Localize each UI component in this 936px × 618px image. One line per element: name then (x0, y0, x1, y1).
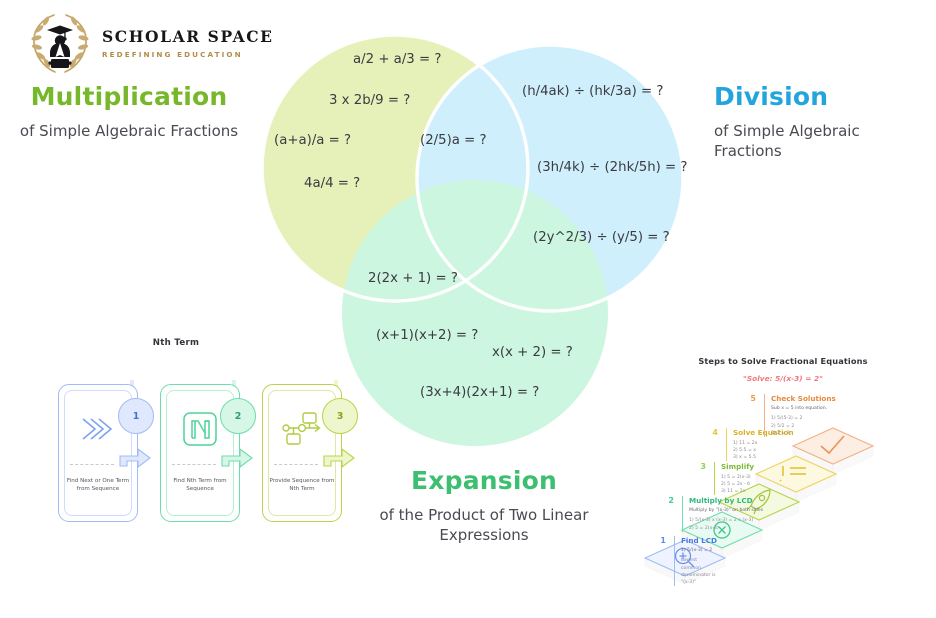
equation-item: 4a/4 = ? (304, 176, 360, 191)
equation-item: (2/5)a = ? (420, 133, 487, 148)
equation-item: (x+1)(x+2) = ? (376, 328, 478, 343)
flow-arrow-1 (118, 444, 152, 470)
nth-term-badge-2: 2 (220, 398, 256, 434)
step-work: 1) 11 = 2x 2) 5.5 = x 3) x = 5.5 (733, 440, 794, 461)
equation-item: x(x + 2) = ? (492, 345, 573, 360)
step-number: 1 (652, 536, 666, 545)
step-work: 1) 5/(x-3) x (x-3) = 2 x (x-3) 2) 5 = 2(… (689, 517, 763, 531)
step-heading: Multiply by LCD (689, 496, 763, 505)
nth-term-badge-3: 3 (322, 398, 358, 434)
step-number: 3 (692, 462, 706, 471)
flow-arrow-2 (220, 444, 254, 470)
equation-item: (2y^2/3) ÷ (y/5) = ? (533, 230, 670, 245)
equation-item: (3h/4k) ÷ (2hk/5h) = ? (537, 160, 687, 175)
section-title-division: Division of Simple Algebraic Fractions (714, 82, 928, 162)
equation-item: 3 x 2b/9 = ? (329, 93, 410, 108)
section-subheading: of Simple Algebraic Fractions (18, 122, 240, 142)
nth-term-card-label: Find Next or One Term from Sequence (64, 477, 132, 493)
section-heading: Expansion (372, 466, 596, 495)
equation-item: 2(2x + 1) = ? (368, 271, 458, 286)
step-number: 5 (742, 394, 756, 403)
brand-name: SCHOLAR SPACE (102, 27, 274, 46)
step-detail: 1) 5/(x-3) = 2 (681, 548, 717, 555)
fraction-steps-subtitle: "Solve: 5/(x-3) = 2" (630, 374, 936, 383)
step-work: 1) 5 = 2(x-3) 2) 5 = 2x - 6 3) 11 = 2x (721, 474, 754, 495)
nth-term-title: Nth Term (30, 338, 322, 348)
brand-logo: SCHOLAR SPACE REDEFINING EDUCATION (24, 6, 256, 80)
brand-tagline: REDEFINING EDUCATION (102, 50, 274, 59)
step-detail: Multiply by "(x-3)" on both sides (689, 508, 763, 515)
step-work: 1) 5/(5-3) = 2 2) 5/2 = 2 3) 2 = 2 (771, 415, 836, 436)
nth-term-card-label: Provide Sequence from Nth Term (268, 477, 336, 493)
step-detail: Sub x = 5 into equation. (771, 406, 836, 413)
section-heading: Multiplication (18, 82, 240, 111)
section-title-multiplication: Multiplication of Simple Algebraic Fract… (18, 82, 240, 142)
section-heading: Division (714, 82, 928, 111)
step-number: 2 (660, 496, 674, 505)
step-heading: Check Solutions (771, 394, 836, 403)
fraction-steps-diagram: Steps to Solve Fractional Equations "Sol… (630, 352, 936, 592)
equation-item: (h/4ak) ÷ (hk/3a) = ? (522, 84, 663, 99)
graduate-laurel-wreath-icon (24, 7, 96, 79)
fraction-steps-title: Steps to Solve Fractional Equations (630, 356, 936, 366)
equation-item: (a+a)/a = ? (274, 133, 351, 148)
card-divider (70, 464, 114, 465)
step-heading: Find LCD (681, 536, 717, 545)
card-divider (274, 464, 318, 465)
section-subheading: of the Product of Two Linear Expressions (372, 506, 596, 546)
card-divider (172, 464, 216, 465)
venn-circle-expansion (342, 180, 608, 446)
flow-arrow-3 (322, 444, 356, 470)
step-heading: Simplify (721, 462, 754, 471)
step-work: Lowest common denominator is "(x-3)" (681, 557, 717, 585)
nth-term-diagram: Nth Term Find Next or One Term from Sequ… (30, 336, 322, 526)
section-subheading: of Simple Algebraic Fractions (714, 122, 928, 162)
step-number: 4 (704, 428, 718, 437)
equation-item: (3x+4)(2x+1) = ? (420, 385, 539, 400)
nth-term-badge-1: 1 (118, 398, 154, 434)
nth-term-card-label: Find Nth Term from Sequence (166, 477, 234, 493)
section-title-expansion: Expansion of the Product of Two Linear E… (372, 466, 596, 546)
equation-item: a/2 + a/3 = ? (353, 52, 441, 67)
